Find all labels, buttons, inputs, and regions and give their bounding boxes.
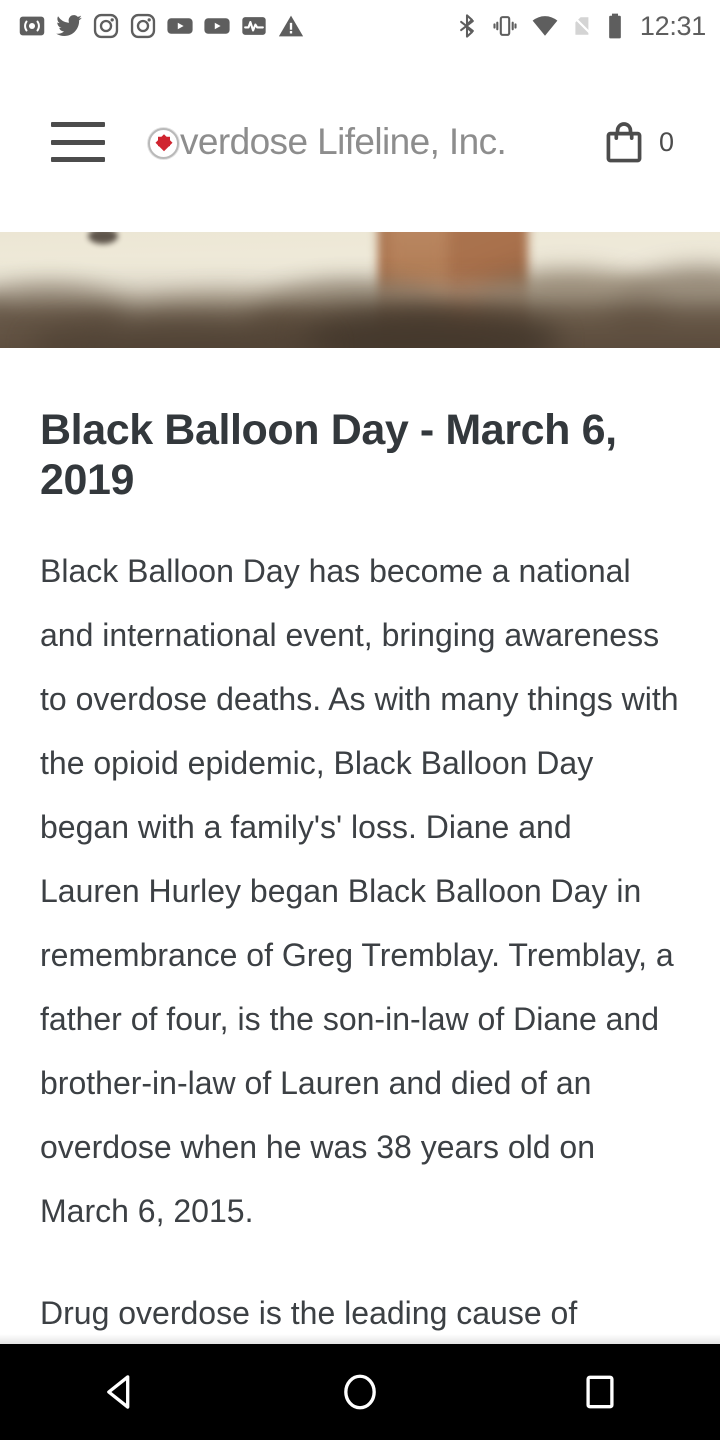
youtube-icon	[203, 12, 231, 40]
content-fade	[0, 1334, 720, 1344]
wifi-icon	[530, 12, 560, 40]
nav-recents-button[interactable]	[525, 1344, 675, 1440]
cart-button[interactable]: 0	[603, 119, 674, 165]
status-bar: 12:31	[0, 0, 720, 52]
article-paragraph: Black Balloon Day has become a national …	[40, 539, 680, 1243]
hamburger-bar	[51, 157, 105, 162]
cast-icon	[18, 12, 46, 40]
page-title: Black Balloon Day - March 6, 2019	[40, 405, 680, 506]
twitter-icon	[55, 12, 83, 40]
article-content: Black Balloon Day - March 6, 2019 Black …	[0, 348, 720, 1345]
home-circle-icon	[339, 1371, 381, 1413]
hamburger-bar	[51, 140, 105, 145]
recents-square-icon	[579, 1371, 621, 1413]
phone-screen: 12:31 verdose Lifeline, Inc. 0	[0, 0, 720, 1440]
hero-banner-image	[0, 232, 720, 348]
nav-back-button[interactable]	[45, 1344, 195, 1440]
vibrate-icon	[491, 12, 519, 40]
android-nav-bar	[0, 1344, 720, 1440]
activity-pulse-icon	[240, 12, 268, 40]
bluetooth-icon	[454, 12, 480, 40]
no-sim-icon	[571, 12, 595, 40]
cart-count: 0	[659, 127, 674, 158]
site-logo[interactable]: verdose Lifeline, Inc.	[148, 121, 506, 163]
system-status-icons: 12:31	[454, 11, 706, 42]
notification-icons	[18, 12, 305, 40]
battery-icon	[606, 12, 624, 40]
status-bar-clock: 12:31	[640, 11, 706, 42]
instagram-icon	[129, 12, 157, 40]
heart-in-circle-logo-icon	[148, 128, 179, 159]
youtube-icon	[166, 12, 194, 40]
hamburger-menu-icon[interactable]	[51, 122, 105, 162]
shopping-bag-icon	[603, 119, 645, 165]
back-triangle-icon	[99, 1371, 141, 1413]
nav-home-button[interactable]	[285, 1344, 435, 1440]
site-header: verdose Lifeline, Inc. 0	[0, 52, 720, 232]
brand-name: verdose Lifeline, Inc.	[180, 121, 506, 163]
instagram-icon	[92, 12, 120, 40]
hamburger-bar	[51, 122, 105, 127]
warning-triangle-icon	[277, 12, 305, 40]
